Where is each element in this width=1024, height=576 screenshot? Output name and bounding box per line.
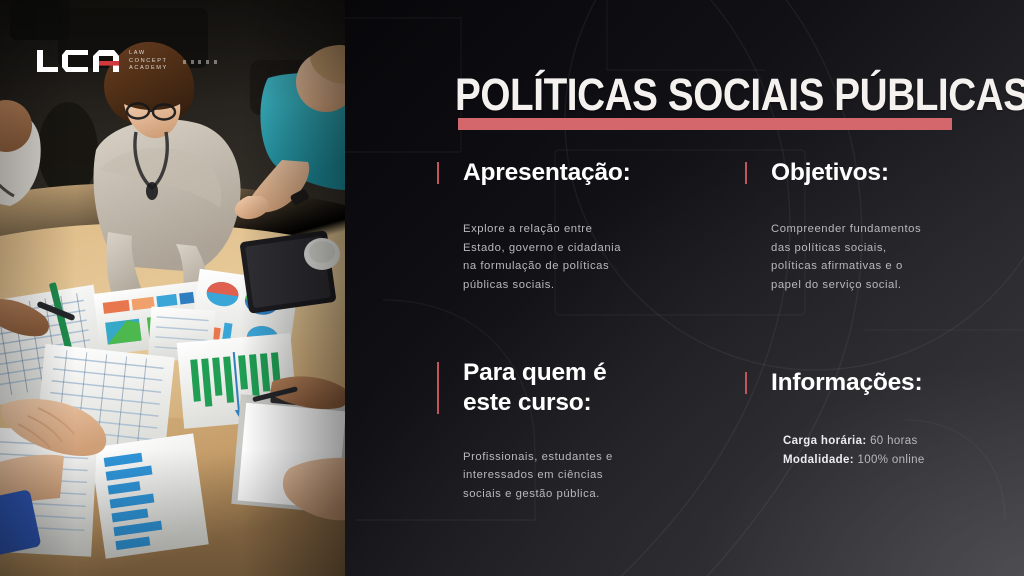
section-informacoes: Informações: Carga horária: 60 horas Mod… xyxy=(745,368,1024,469)
lca-logo-tagline: LAW CONCEPT ACADEMY xyxy=(129,50,168,73)
logo-dots-decoration xyxy=(183,58,217,63)
apresentacao-heading-wrap: Apresentação: xyxy=(437,158,707,188)
logo-tagline-line-1: LAW xyxy=(129,51,168,57)
info-label-modalidade: Modalidade: xyxy=(783,454,854,466)
meeting-photo-illustration xyxy=(0,0,345,576)
course-slide: LAW CONCEPT ACADEMY xyxy=(0,0,1024,576)
informacoes-heading: Informações: xyxy=(771,368,1024,398)
info-value-carga-horaria: 60 horas xyxy=(870,435,918,447)
info-item-carga-horaria: Carga horária: 60 horas xyxy=(783,432,1024,451)
slide-title-wrap: POLÍTICAS SOCIAIS PÚBLICAS xyxy=(455,72,1024,118)
logo-tagline-line-2: CONCEPT xyxy=(129,59,168,65)
informacoes-heading-wrap: Informações: xyxy=(745,368,1024,398)
info-item-modalidade: Modalidade: 100% online xyxy=(783,451,1024,470)
page-title: POLÍTICAS SOCIAIS PÚBLICAS xyxy=(455,72,1024,118)
section-objetivos: Objetivos: Compreender fundamentos das p… xyxy=(745,158,1024,294)
lca-logo[interactable]: LAW CONCEPT ACADEMY xyxy=(36,48,217,74)
hero-photo: LAW CONCEPT ACADEMY xyxy=(0,0,345,576)
para-quem-body: Profissionais, estudantes e interessados… xyxy=(437,418,707,504)
objetivos-heading-wrap: Objetivos: xyxy=(745,158,1024,188)
apresentacao-body: Explore a relação entre Estado, governo … xyxy=(437,188,707,295)
logo-tagline-line-3: ACADEMY xyxy=(129,66,168,72)
objetivos-heading: Objetivos: xyxy=(771,158,1024,188)
objetivos-body: Compreender fundamentos das políticas so… xyxy=(745,188,1024,295)
content-panel: POLÍTICAS SOCIAIS PÚBLICAS Apresentação:… xyxy=(345,0,1024,576)
section-apresentacao: Apresentação: Explore a relação entre Es… xyxy=(437,158,707,294)
info-label-carga-horaria: Carga horária: xyxy=(783,435,867,447)
para-quem-heading: Para quem é este curso: xyxy=(463,358,707,418)
apresentacao-heading: Apresentação: xyxy=(463,158,707,188)
lca-logo-mark xyxy=(36,48,120,74)
info-value-modalidade: 100% online xyxy=(857,454,924,466)
para-quem-heading-wrap: Para quem é este curso: xyxy=(437,358,707,418)
informacoes-list: Carga horária: 60 horas Modalidade: 100%… xyxy=(745,398,1024,469)
section-para-quem: Para quem é este curso: Profissionais, e… xyxy=(437,358,707,504)
